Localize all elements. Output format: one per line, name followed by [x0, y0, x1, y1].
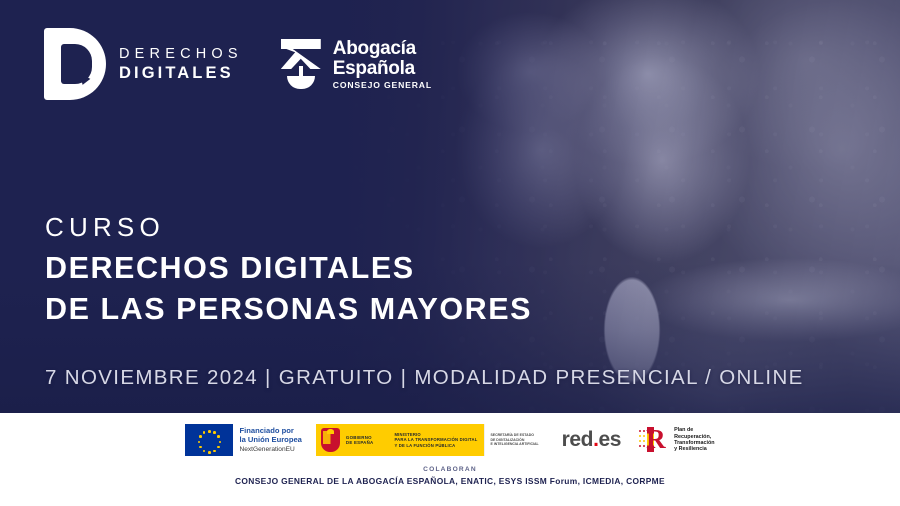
eu-funding-text: Financiado por la Unión Europea NextGene…: [239, 427, 301, 453]
abogacia-line-1: Abogacía: [333, 39, 432, 58]
ministerio-label: MINISTERIO PARA LA TRANSFORMACIÓN DIGITA…: [394, 432, 477, 447]
abogacia-line-3: CONSEJO GENERAL: [333, 81, 432, 90]
scales-of-justice-icon: [279, 37, 323, 91]
eu-flag-icon: [185, 424, 233, 456]
course-meta-line: 7 NOVIEMBRE 2024 | GRATUITO | MODALIDAD …: [45, 366, 804, 390]
hero-section: DERECHOS DIGITALES Abogacía Española CON…: [0, 0, 900, 413]
logo-word-derechos: DERECHOS: [119, 47, 243, 62]
prtr-line-4: y Resiliencia: [674, 446, 714, 452]
derechos-digitales-wordmark: DERECHOS DIGITALES: [119, 47, 243, 82]
ministerio-line-2: PARA LA TRANSFORMACIÓN DIGITAL: [394, 437, 477, 442]
course-title-line-2: DE LAS PERSONAS MAYORES: [45, 289, 532, 330]
logo-word-digitales: DIGITALES: [119, 65, 243, 82]
eu-text-line-3: NextGenerationEU: [239, 446, 301, 453]
headline-block: CURSO DERECHOS DIGITALES DE LAS PERSONAS…: [45, 213, 532, 329]
gobierno-line-2: DE ESPAÑA: [346, 440, 374, 445]
redes-logo: red.es: [562, 428, 621, 452]
redes-text-before: red: [562, 428, 593, 451]
promo-banner: DERECHOS DIGITALES Abogacía Española CON…: [0, 0, 900, 506]
abogacia-line-2: Española: [333, 59, 432, 78]
collaborators-label: COLABORAN: [235, 466, 665, 473]
course-title-line-1: DERECHOS DIGITALES: [45, 248, 532, 289]
funder-logos-row: Financiado por la Unión Europea NextGene…: [185, 423, 714, 457]
gobierno-de-espana-logo: GOBIERNO DE ESPAÑA MINISTERIO PARA LA TR…: [316, 424, 544, 456]
logo-bar: DERECHOS DIGITALES Abogacía Española CON…: [44, 28, 432, 100]
ministerio-line-3: Y DE LA FUNCIÓN PÚBLICA: [394, 443, 477, 448]
course-kicker: CURSO: [45, 213, 532, 241]
redes-text-after: es: [599, 428, 622, 451]
eu-text-line-2: la Unión Europea: [239, 436, 301, 445]
gobierno-label: GOBIERNO DE ESPAÑA: [346, 435, 374, 445]
prtr-text-block: Plan de Recuperación, Transformación y R…: [674, 427, 714, 453]
abogacia-wordmark: Abogacía Española CONSEJO GENERAL: [333, 39, 432, 90]
plan-recuperacion-logo: R Plan de Recuperación, Transformación y…: [639, 425, 714, 455]
european-union-funding-logo: Financiado por la Unión Europea NextGene…: [185, 424, 301, 456]
spain-coat-of-arms-icon: [321, 428, 340, 452]
prtr-r-icon: R: [639, 425, 669, 455]
derechos-digitales-logo: DERECHOS DIGITALES: [44, 28, 243, 100]
secretaria-line-3: E INTELIGENCIA ARTIFICIAL: [490, 442, 538, 447]
abogacia-espanola-logo: Abogacía Española CONSEJO GENERAL: [279, 37, 432, 91]
secretaria-estado-label: SECRETARÍA DE ESTADO DE DIGITALIZACIÓN E…: [484, 424, 543, 456]
collaborators-block: COLABORAN CONSEJO GENERAL DE LA ABOGACÍA…: [235, 466, 665, 486]
speech-bubble-d-icon: [44, 28, 106, 100]
collaborators-list: CONSEJO GENERAL DE LA ABOGACÍA ESPAÑOLA,…: [235, 476, 665, 486]
footer-section: Financiado por la Unión Europea NextGene…: [0, 413, 900, 506]
